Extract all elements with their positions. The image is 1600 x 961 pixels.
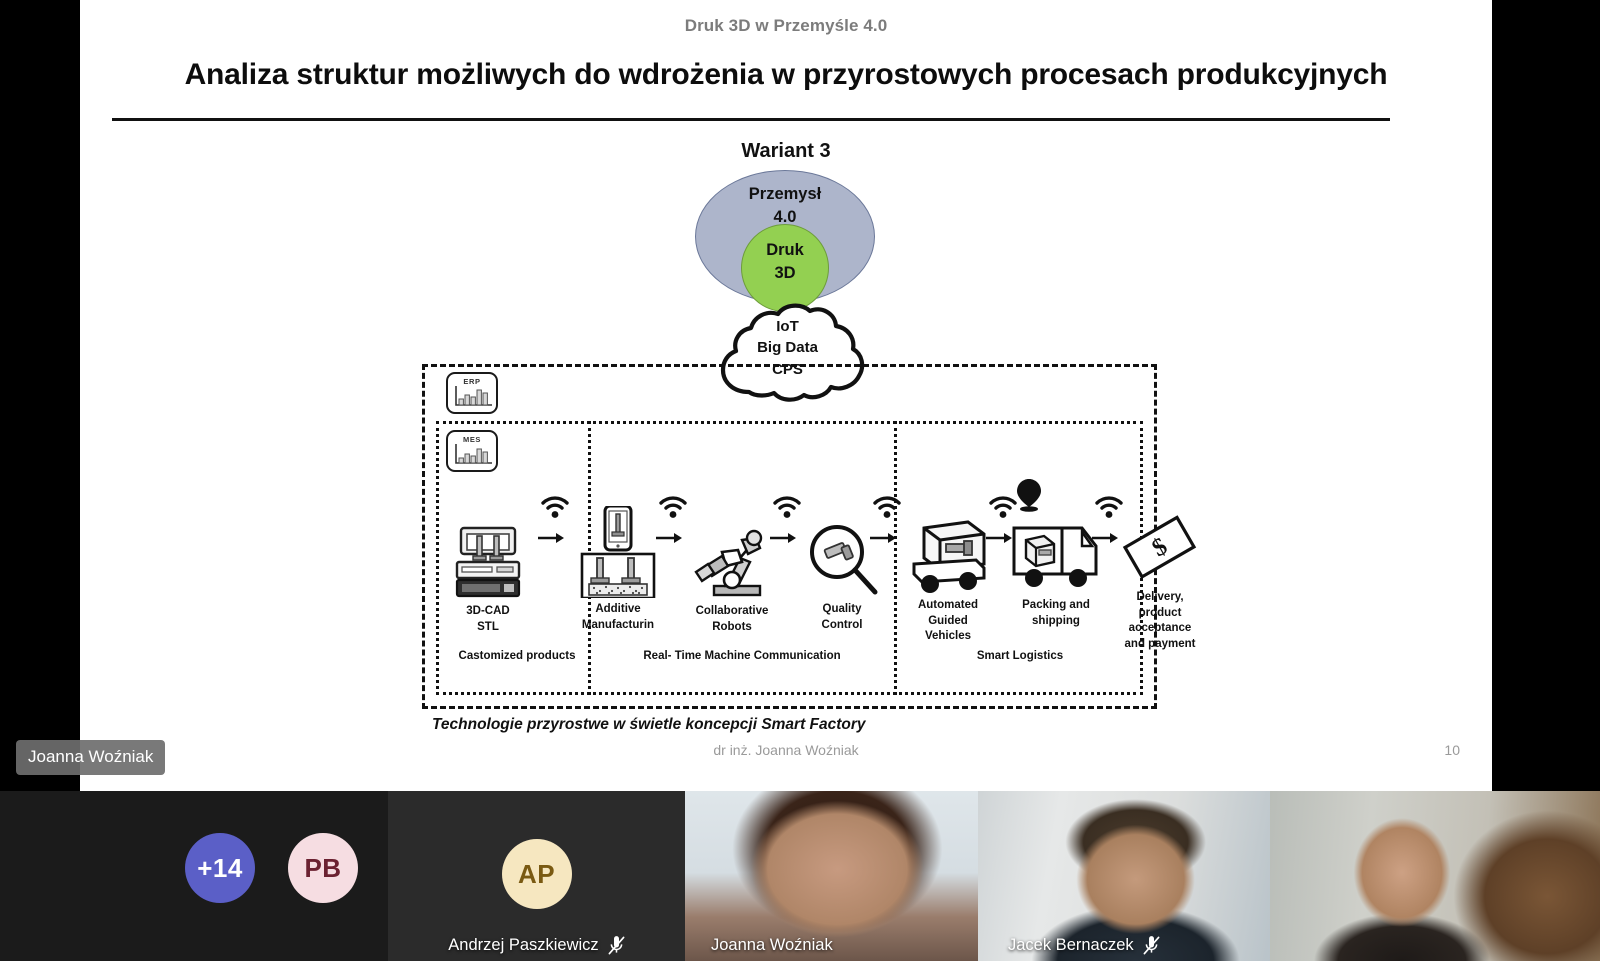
additive-manufacturing-icon: [576, 506, 660, 598]
flow-arrow-icon: [656, 532, 682, 544]
diagram-caption: Technologie przyrostwe w świetle koncepc…: [432, 716, 866, 734]
zone-label-customized: Castomized products: [444, 650, 590, 662]
mes-system-icon: MES: [446, 430, 498, 472]
industry40-label: Przemysł 4.0: [696, 183, 874, 229]
participant-tile-unnamed[interactable]: [1270, 791, 1600, 961]
participant-tile-andrzej-paszkiewicz[interactable]: AP Andrzej Paszkiewicz: [388, 791, 685, 961]
participant-tile-joanna-wozniak[interactable]: Joanna Woźniak: [685, 791, 978, 961]
station-agv: Automated Guided Vehicles: [900, 516, 996, 645]
wifi-icon: [658, 496, 688, 518]
footer-author: dr inż. Joanna Woźniak: [80, 742, 1492, 758]
station-additive-manufacturing: Additive Manufacturin: [566, 506, 670, 633]
avatar-ap[interactable]: AP: [502, 839, 572, 909]
slide-page-number: 10: [1444, 742, 1460, 758]
video-feed: [1270, 791, 1600, 961]
station-collaborative-robots: Collaborative Robots: [684, 524, 780, 635]
wifi-icon: [872, 496, 902, 518]
station-3d-cad: 3D-CAD STL: [440, 524, 536, 635]
station-caption: 3D-CAD STL: [440, 604, 536, 635]
venn-diagram: Przemysł 4.0 Druk 3D: [695, 170, 875, 310]
cloud-label: IoT Big Data CPS: [705, 316, 870, 380]
variant-label: Wariant 3: [80, 140, 1492, 163]
participant-tile-overflow[interactable]: +14 PB: [0, 791, 388, 961]
agv-cart-icon: [906, 516, 990, 594]
participant-filmstrip: +14 PB AP Andrzej Paszkiewicz: [0, 791, 1600, 961]
page-title: Analiza struktur możliwych do wdrożenia …: [114, 58, 1458, 92]
druk3d-line1: Druk: [766, 241, 804, 259]
screen-share-area[interactable]: Druk 3D w Przemyśle 4.0 Analiza struktur…: [0, 0, 1600, 791]
mic-off-icon: [608, 936, 625, 955]
zone-label-realtime: Real- Time Machine Communication: [594, 650, 890, 662]
cloud-line1: IoT: [776, 318, 799, 335]
delivery-truck-icon: [1010, 516, 1102, 594]
wifi-icon: [988, 496, 1018, 518]
slide-header-text: Druk 3D w Przemyśle 4.0: [80, 16, 1492, 36]
erp-system-icon: ERP: [446, 372, 498, 414]
mic-off-icon: [1143, 936, 1160, 955]
overflow-avatar[interactable]: +14: [185, 833, 255, 903]
smart-factory-diagram: ERP MES: [422, 364, 1157, 709]
presentation-slide[interactable]: Druk 3D w Przemyśle 4.0 Analiza struktur…: [80, 0, 1492, 791]
station-caption: Quality Control: [796, 602, 888, 633]
participant-name: Andrzej Paszkiewicz: [388, 936, 685, 955]
meeting-stage: Druk 3D w Przemyśle 4.0 Analiza struktur…: [0, 0, 1600, 961]
flow-arrow-icon: [770, 532, 796, 544]
participant-name-text: Andrzej Paszkiewicz: [448, 936, 598, 955]
robot-arm-icon: [692, 524, 772, 600]
participant-name-text: Jacek Bernaczek: [1008, 936, 1134, 955]
station-delivery-payment: $ Delivery, product acceptance and payme…: [1110, 514, 1210, 652]
title-divider: [112, 118, 1390, 121]
participant-name: Joanna Woźniak: [685, 936, 978, 955]
location-pin-icon: [1016, 478, 1042, 512]
flow-arrow-icon: [538, 532, 564, 544]
bar-chart-icon: [455, 385, 493, 406]
payment-banknote-icon: $: [1122, 514, 1198, 586]
avatar-initials: PB: [304, 853, 341, 884]
zone-label-logistics: Smart Logistics: [900, 650, 1140, 662]
participant-name-text: Joanna Woźniak: [711, 936, 833, 955]
avatar-pb[interactable]: PB: [288, 833, 358, 903]
wifi-icon: [772, 496, 802, 518]
druk3d-label: Druk 3D: [742, 239, 828, 285]
station-caption: Automated Guided Vehicles: [900, 598, 996, 645]
station-packing-shipping: Packing and shipping: [1008, 516, 1104, 629]
station-caption: Collaborative Robots: [684, 604, 780, 635]
flow-arrow-icon: [870, 532, 896, 544]
cloud-line3: CPS: [772, 361, 803, 378]
station-caption: Additive Manufacturin: [566, 602, 670, 633]
overflow-count: +14: [197, 853, 243, 884]
zone-divider-2: [894, 421, 897, 695]
bar-chart-icon: [455, 443, 493, 464]
participant-name: Jacek Bernaczek: [978, 936, 1270, 955]
participant-tile-jacek-bernaczek[interactable]: Jacek Bernaczek: [978, 791, 1270, 961]
3d-printer-workstation-icon: [451, 524, 525, 600]
station-caption: Delivery, product acceptance and payment: [1110, 590, 1210, 652]
station-caption: Packing and shipping: [1008, 598, 1104, 629]
industry40-line1: Przemysł: [749, 185, 821, 203]
druk3d-line2: 3D: [774, 264, 795, 282]
cloud-line2: Big Data: [757, 339, 818, 356]
presenter-name-pill: Joanna Woźniak: [16, 740, 165, 775]
avatar-initials: AP: [518, 859, 555, 890]
